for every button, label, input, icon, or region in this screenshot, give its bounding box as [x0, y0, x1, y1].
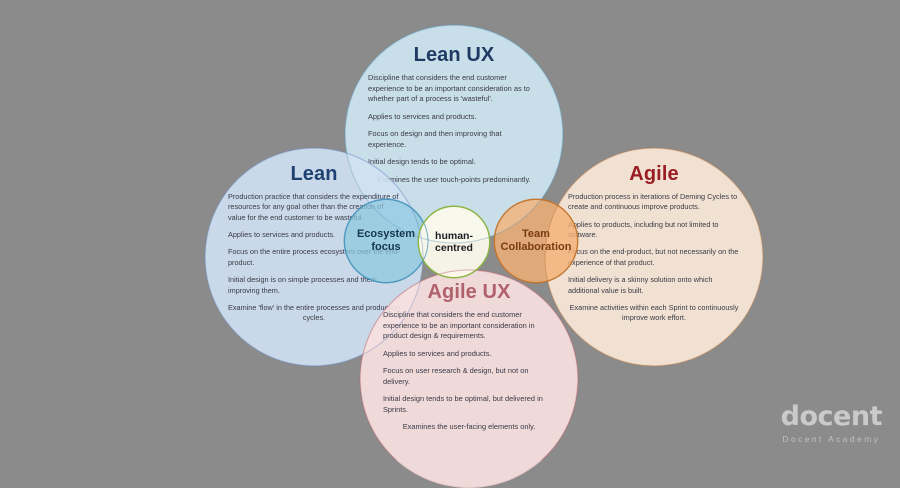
venn-circle-agile: Agile Production process in iterations o…: [545, 148, 763, 366]
venn-body-agile: Production process in iterations of Demi…: [568, 192, 740, 324]
venn-title-lean: Lean: [228, 163, 400, 185]
venn-paragraph: Focus on user research & design, but not…: [383, 366, 555, 387]
venn-paragraph: Applies to products, including but not l…: [568, 220, 740, 241]
venn-paragraph: Production process in iterations of Demi…: [568, 192, 740, 213]
venn-paragraph: Focus on the end-product, but not necess…: [568, 247, 740, 268]
venn-circle-agile-ux: Agile UX Discipline that considers the e…: [360, 270, 578, 488]
intersection-team-collaboration: Team Collaboration: [494, 199, 578, 283]
intersection-ecosystem-focus: Ecosystem focus: [344, 199, 428, 283]
venn-title-agile-ux: Agile UX: [383, 281, 555, 303]
intersection-human-centred: human-centred: [418, 206, 490, 278]
watermark-brand: docent: [781, 403, 882, 430]
watermark: docent Docent Academy: [781, 403, 882, 444]
venn-paragraph: Initial design tends to be optimal, but …: [383, 394, 555, 415]
venn-title-lean-ux: Lean UX: [368, 44, 540, 66]
venn-paragraph: Initial delivery is a skinny solution on…: [568, 275, 740, 296]
venn-paragraph: Applies to services and products.: [368, 112, 540, 123]
venn-paragraph: Discipline that considers the end custom…: [383, 310, 555, 342]
venn-paragraph: Applies to services and products.: [383, 349, 555, 360]
venn-title-agile: Agile: [568, 163, 740, 185]
venn-paragraph: Examines the user-facing elements only.: [383, 422, 555, 433]
venn-paragraph: Examine activities within each Sprint to…: [568, 303, 740, 324]
venn-paragraph: Discipline that considers the end custom…: [368, 73, 540, 105]
watermark-tagline: Docent Academy: [781, 434, 882, 444]
venn-paragraph: Focus on design and then improving that …: [368, 129, 540, 150]
diagram-canvas: Lean UX Discipline that considers the en…: [0, 0, 900, 460]
venn-body-agile-ux: Discipline that considers the end custom…: [383, 310, 555, 433]
